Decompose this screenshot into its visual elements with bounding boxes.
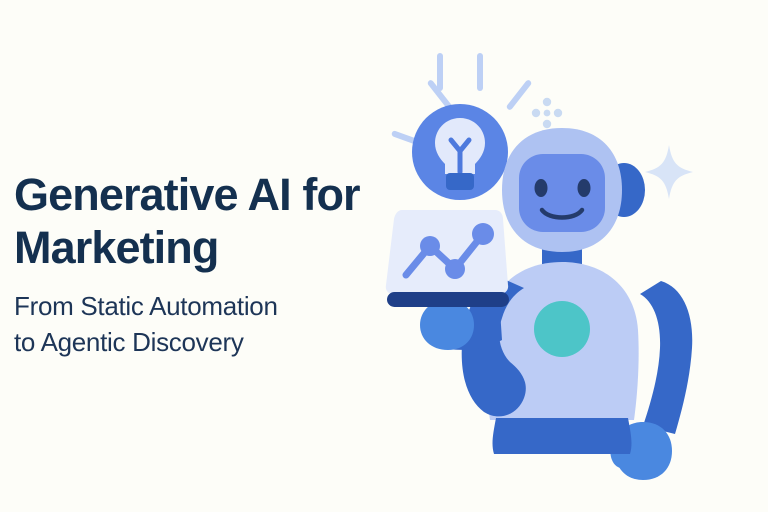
robot-right-arm [640,281,692,434]
idea-lightbulb-icon [412,104,508,200]
four-point-sparkle-icon [645,145,693,199]
robot-faceplate [519,154,605,232]
page-title: Generative AI for Marketing [14,168,414,274]
tablet-device [386,210,509,307]
robot-eye-right [578,179,591,197]
tablet-screen [386,210,508,294]
slide-canvas: Generative AI for Marketing From Static … [0,0,768,512]
sparkle-dots-icon [532,98,562,128]
robot-waist [493,418,632,454]
page-subtitle: From Static Automation to Agentic Discov… [14,288,414,360]
robot-chest-light [534,301,590,357]
robot-head [502,128,645,252]
robot-left-hand [420,300,474,350]
robot-eye-left [535,179,548,197]
text-block: Generative AI for Marketing From Static … [14,168,414,360]
tablet-base [387,292,509,307]
hero-illustration [372,30,768,512]
